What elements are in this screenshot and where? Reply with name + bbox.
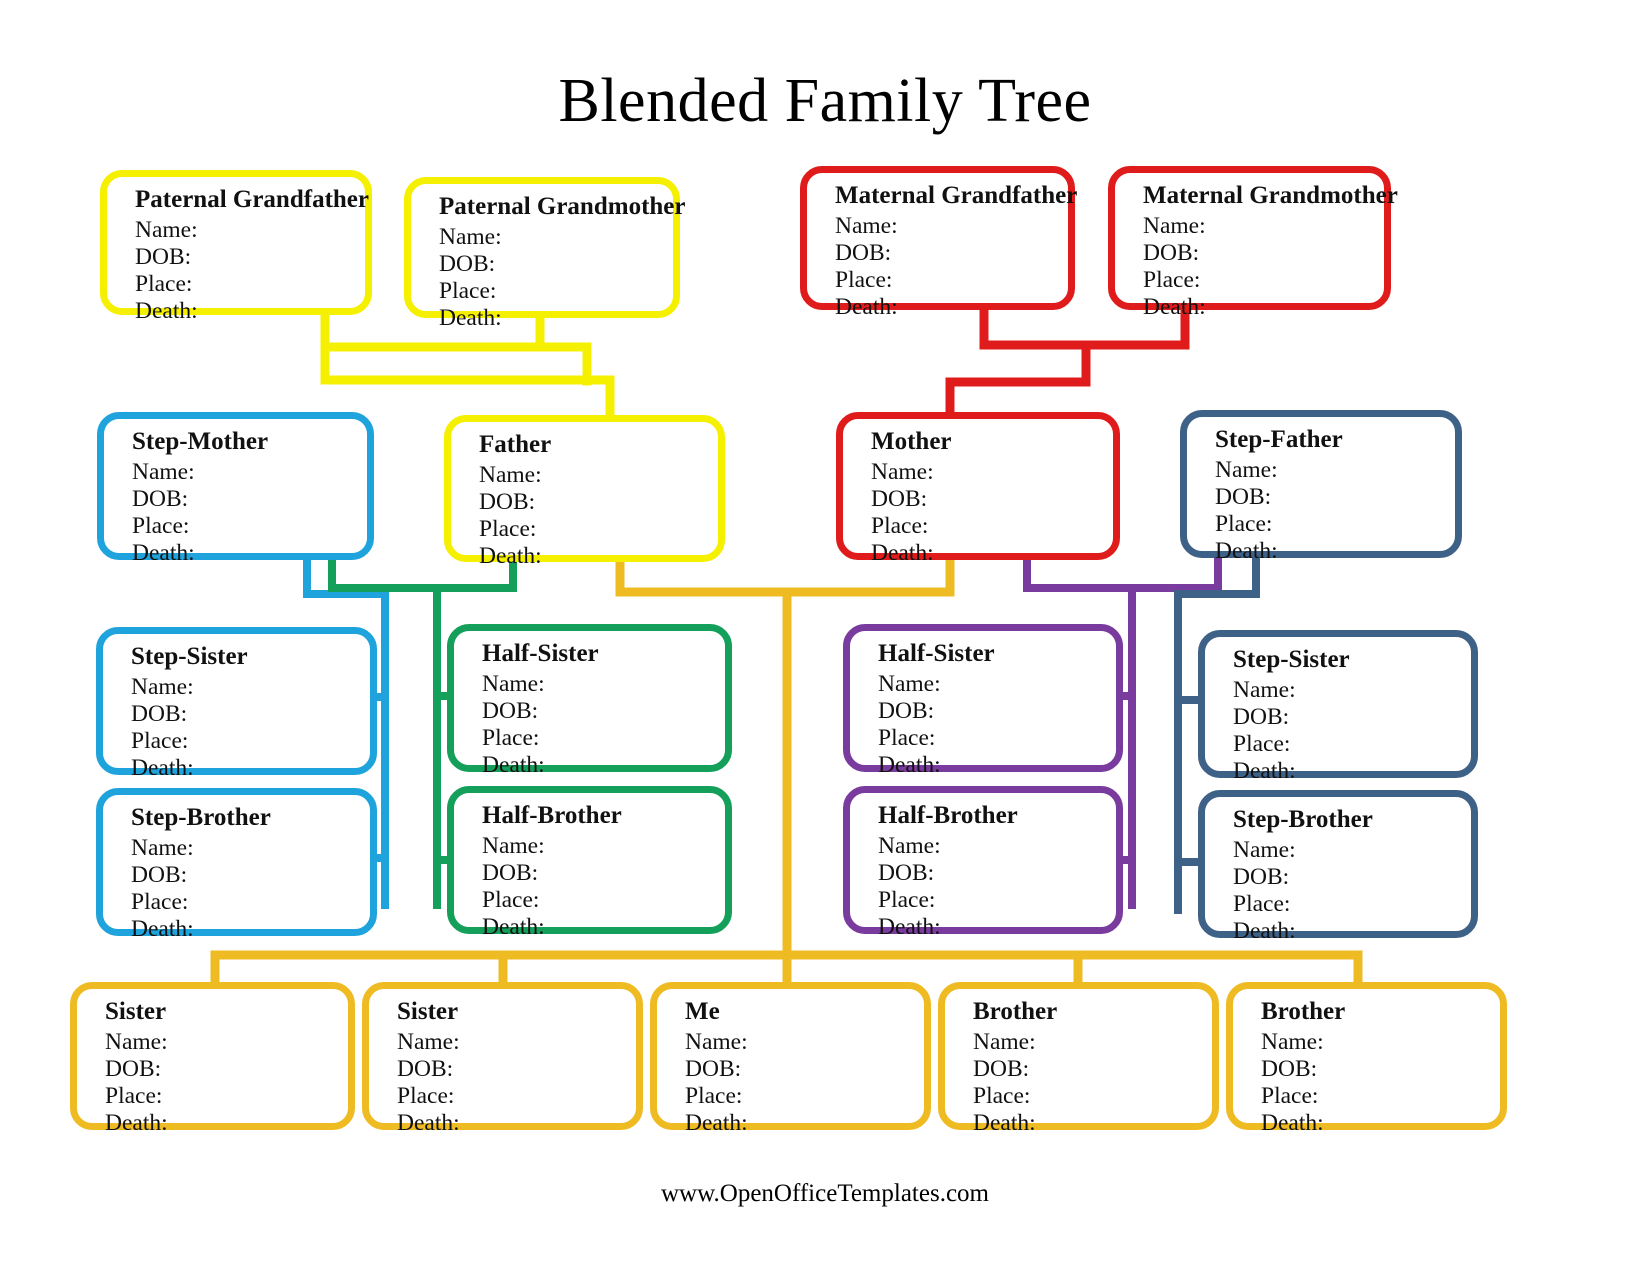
field-place: Place: <box>1233 731 1471 758</box>
field-name: Name: <box>397 1029 636 1056</box>
node-maternal-grandmother[interactable]: Maternal GrandmotherName:DOB:Place:Death… <box>1108 166 1391 310</box>
node-title: Paternal Grandmother <box>439 194 673 220</box>
field-place: Place: <box>871 513 1113 540</box>
node-step-brother-left[interactable]: Step-BrotherName:DOB:Place:Death: <box>96 788 377 936</box>
field-name: Name: <box>135 217 365 244</box>
field-dob: DOB: <box>482 860 725 887</box>
node-father[interactable]: FatherName:DOB:Place:Death: <box>444 415 725 562</box>
field-dob: DOB: <box>131 862 370 889</box>
field-dob: DOB: <box>835 240 1068 267</box>
field-name: Name: <box>439 224 673 251</box>
node-title: Paternal Grandfather <box>135 187 365 213</box>
field-death: Death: <box>1261 1110 1500 1137</box>
field-death: Death: <box>685 1110 924 1137</box>
field-name: Name: <box>105 1029 348 1056</box>
field-dob: DOB: <box>1215 484 1455 511</box>
node-step-mother[interactable]: Step-MotherName:DOB:Place:Death: <box>97 412 374 560</box>
node-step-sister-right[interactable]: Step-SisterName:DOB:Place:Death: <box>1198 630 1478 778</box>
node-paternal-grandmother[interactable]: Paternal GrandmotherName:DOB:Place:Death… <box>404 177 680 318</box>
field-death: Death: <box>1233 918 1471 945</box>
node-half-sister-left[interactable]: Half-SisterName:DOB:Place:Death: <box>447 624 732 772</box>
field-place: Place: <box>1261 1083 1500 1110</box>
node-brother-1[interactable]: BrotherName:DOB:Place:Death: <box>938 982 1219 1130</box>
field-death: Death: <box>835 294 1068 321</box>
field-name: Name: <box>482 833 725 860</box>
field-place: Place: <box>1233 891 1471 918</box>
field-name: Name: <box>131 674 370 701</box>
field-death: Death: <box>479 543 718 570</box>
field-death: Death: <box>1215 538 1455 565</box>
field-place: Place: <box>479 516 718 543</box>
field-death: Death: <box>439 305 673 332</box>
field-dob: DOB: <box>132 486 367 513</box>
node-mother[interactable]: MotherName:DOB:Place:Death: <box>836 412 1120 560</box>
field-name: Name: <box>482 671 725 698</box>
field-place: Place: <box>439 278 673 305</box>
field-place: Place: <box>105 1083 348 1110</box>
field-death: Death: <box>105 1110 348 1137</box>
field-death: Death: <box>1143 294 1384 321</box>
field-death: Death: <box>1233 758 1471 785</box>
field-name: Name: <box>1261 1029 1500 1056</box>
node-title: Step-Brother <box>1233 807 1471 833</box>
node-title: Half-Brother <box>878 803 1116 829</box>
field-place: Place: <box>878 887 1116 914</box>
field-dob: DOB: <box>1233 704 1471 731</box>
connector-maternal-couple-to-mother <box>950 310 1185 412</box>
node-title: Sister <box>397 999 636 1025</box>
field-place: Place: <box>973 1083 1212 1110</box>
field-name: Name: <box>1233 677 1471 704</box>
field-place: Place: <box>878 725 1116 752</box>
node-step-sister-left[interactable]: Step-SisterName:DOB:Place:Death: <box>96 627 377 775</box>
field-death: Death: <box>397 1110 636 1137</box>
field-name: Name: <box>878 833 1116 860</box>
node-maternal-grandfather[interactable]: Maternal GrandfatherName:DOB:Place:Death… <box>800 166 1075 310</box>
field-place: Place: <box>1215 511 1455 538</box>
field-place: Place: <box>482 725 725 752</box>
field-dob: DOB: <box>135 244 365 271</box>
node-title: Half-Brother <box>482 803 725 829</box>
field-place: Place: <box>131 728 370 755</box>
node-title: Half-Sister <box>878 641 1116 667</box>
node-step-father[interactable]: Step-FatherName:DOB:Place:Death: <box>1180 410 1462 558</box>
node-title: Brother <box>1261 999 1500 1025</box>
page-title: Blended Family Tree <box>0 66 1650 137</box>
node-title: Step-Brother <box>131 805 370 831</box>
node-title: Step-Mother <box>132 429 367 455</box>
node-brother-2[interactable]: BrotherName:DOB:Place:Death: <box>1226 982 1507 1130</box>
field-death: Death: <box>878 752 1116 779</box>
node-half-brother-right[interactable]: Half-BrotherName:DOB:Place:Death: <box>843 786 1123 934</box>
field-dob: DOB: <box>973 1056 1212 1083</box>
field-death: Death: <box>482 914 725 941</box>
field-place: Place: <box>132 513 367 540</box>
field-place: Place: <box>135 271 365 298</box>
node-title: Father <box>479 432 718 458</box>
field-name: Name: <box>871 459 1113 486</box>
field-death: Death: <box>973 1110 1212 1137</box>
field-name: Name: <box>878 671 1116 698</box>
field-dob: DOB: <box>1233 864 1471 891</box>
field-name: Name: <box>973 1029 1212 1056</box>
field-dob: DOB: <box>397 1056 636 1083</box>
field-dob: DOB: <box>131 701 370 728</box>
field-dob: DOB: <box>685 1056 924 1083</box>
field-name: Name: <box>1143 213 1384 240</box>
field-dob: DOB: <box>1261 1056 1500 1083</box>
field-place: Place: <box>685 1083 924 1110</box>
field-place: Place: <box>1143 267 1384 294</box>
field-dob: DOB: <box>878 860 1116 887</box>
field-dob: DOB: <box>479 489 718 516</box>
field-dob: DOB: <box>871 486 1113 513</box>
field-name: Name: <box>1215 457 1455 484</box>
field-name: Name: <box>479 462 718 489</box>
node-me[interactable]: MeName:DOB:Place:Death: <box>650 982 931 1130</box>
node-title: Mother <box>871 429 1113 455</box>
field-place: Place: <box>835 267 1068 294</box>
node-title: Step-Father <box>1215 427 1455 453</box>
node-half-brother-left[interactable]: Half-BrotherName:DOB:Place:Death: <box>447 786 732 934</box>
field-death: Death: <box>482 752 725 779</box>
field-death: Death: <box>131 916 370 943</box>
field-dob: DOB: <box>439 251 673 278</box>
node-step-brother-right[interactable]: Step-BrotherName:DOB:Place:Death: <box>1198 790 1478 938</box>
node-paternal-grandfather[interactable]: Paternal GrandfatherName:DOB:Place:Death… <box>100 170 372 315</box>
field-name: Name: <box>1233 837 1471 864</box>
field-dob: DOB: <box>878 698 1116 725</box>
node-title: Me <box>685 999 924 1025</box>
field-name: Name: <box>131 835 370 862</box>
node-title: Step-Sister <box>1233 647 1471 673</box>
field-dob: DOB: <box>482 698 725 725</box>
node-sister-1[interactable]: SisterName:DOB:Place:Death: <box>70 982 355 1130</box>
node-title: Sister <box>105 999 348 1025</box>
field-dob: DOB: <box>105 1056 348 1083</box>
node-title: Half-Sister <box>482 641 725 667</box>
node-title: Step-Sister <box>131 644 370 670</box>
node-title: Maternal Grandmother <box>1143 183 1384 209</box>
node-title: Brother <box>973 999 1212 1025</box>
field-death: Death: <box>132 540 367 567</box>
connector-father-mother-to-children <box>215 562 1358 982</box>
field-place: Place: <box>482 887 725 914</box>
connector-paternal-spine <box>325 347 587 381</box>
field-name: Name: <box>132 459 367 486</box>
field-name: Name: <box>835 213 1068 240</box>
field-death: Death: <box>135 298 365 325</box>
node-half-sister-right[interactable]: Half-SisterName:DOB:Place:Death: <box>843 624 1123 772</box>
field-place: Place: <box>131 889 370 916</box>
node-title: Maternal Grandfather <box>835 183 1068 209</box>
footer-url: www.OpenOfficeTemplates.com <box>0 1180 1650 1208</box>
family-tree-canvas: Blended Family Tree <box>0 0 1650 1275</box>
node-sister-2[interactable]: SisterName:DOB:Place:Death: <box>362 982 643 1130</box>
field-death: Death: <box>871 540 1113 567</box>
field-name: Name: <box>685 1029 924 1056</box>
field-death: Death: <box>878 914 1116 941</box>
field-death: Death: <box>131 755 370 782</box>
field-place: Place: <box>397 1083 636 1110</box>
field-dob: DOB: <box>1143 240 1384 267</box>
